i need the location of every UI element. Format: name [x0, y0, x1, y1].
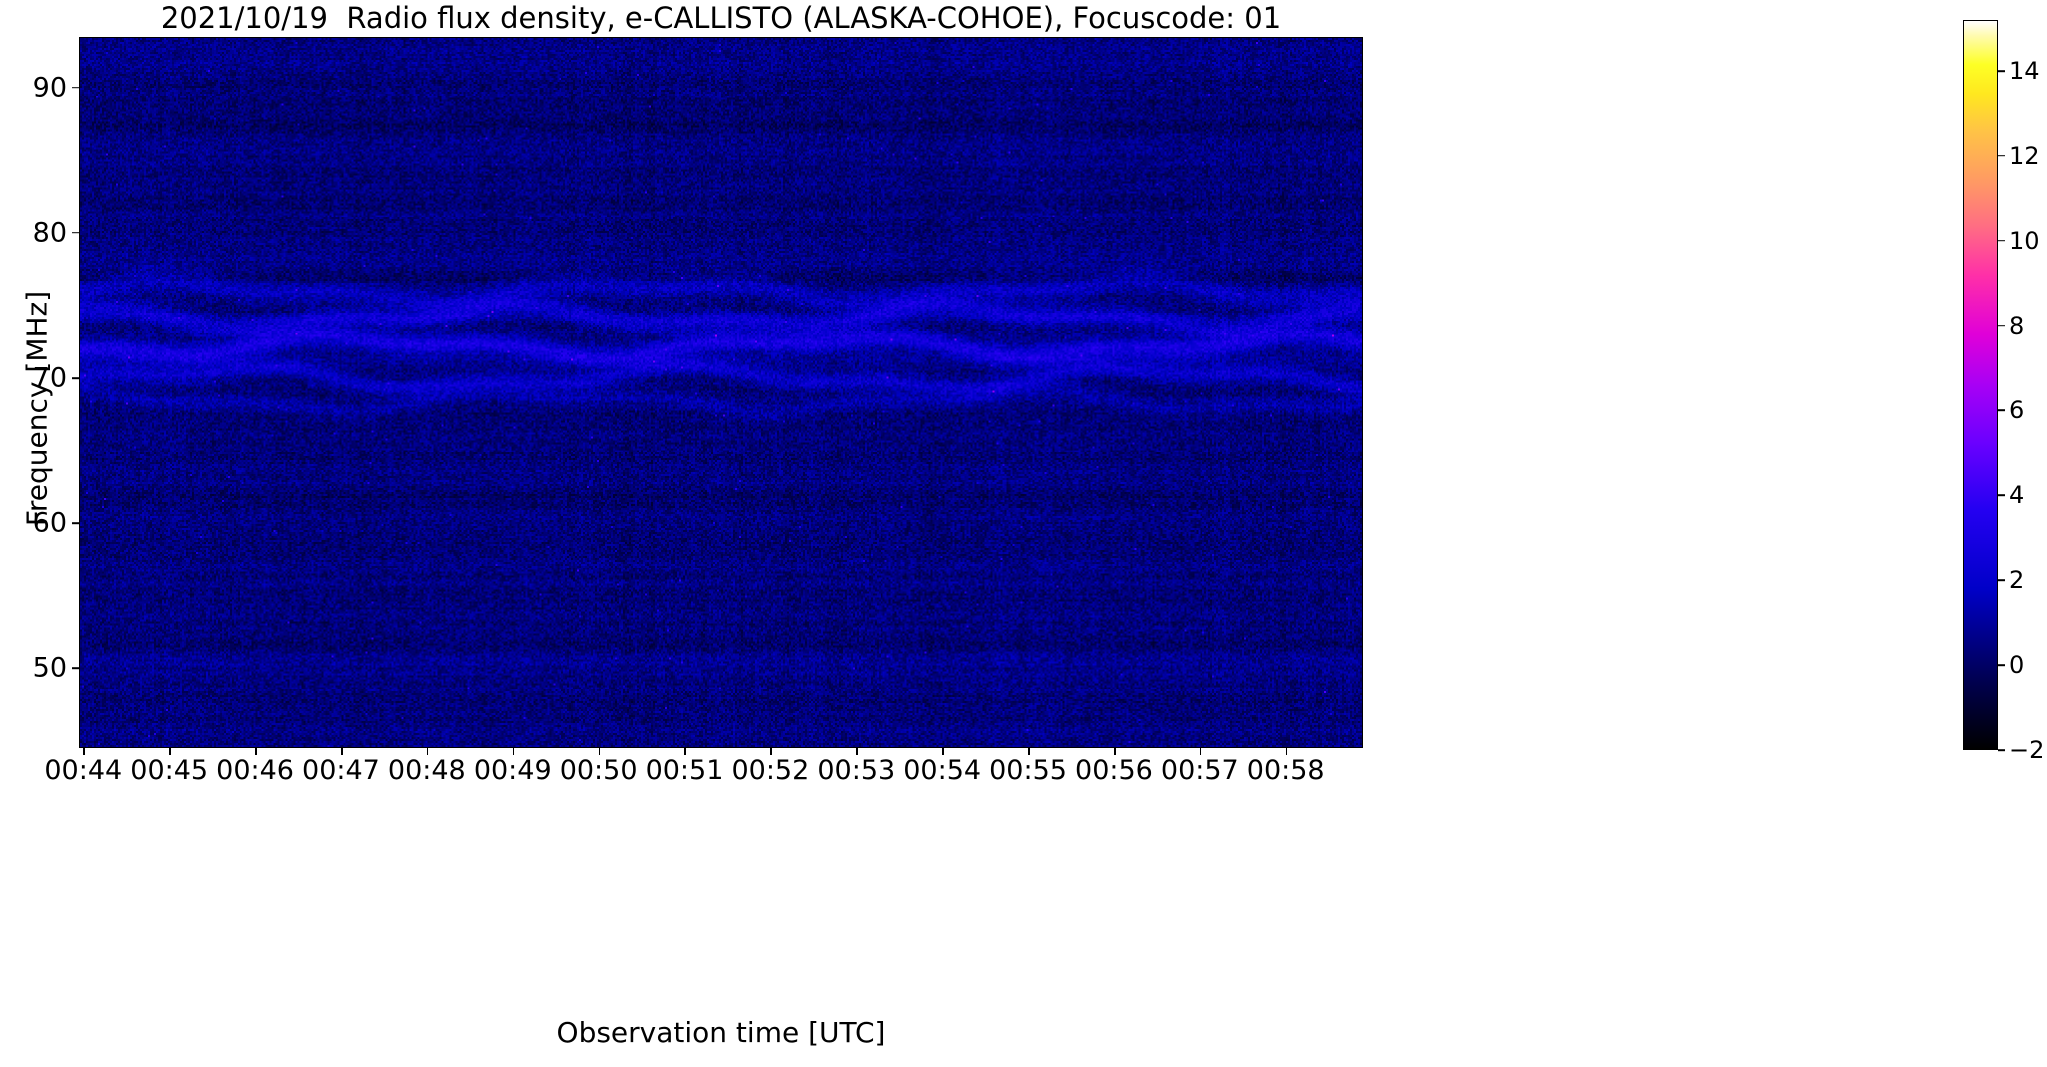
colorbar-tick-label: 4 — [2009, 483, 2024, 507]
x-tick-mark — [942, 748, 944, 755]
x-tick-mark — [341, 748, 343, 755]
colorbar[interactable]: 14121086420−2 — [1963, 20, 1998, 750]
colorbar-tick-label: 10 — [2009, 229, 2040, 253]
y-tick-mark — [72, 667, 79, 669]
x-tick-mark — [83, 748, 85, 755]
y-tick-label: 50 — [0, 655, 67, 682]
y-tick-label: 60 — [0, 510, 67, 537]
x-tick-mark — [599, 748, 601, 755]
y-tick-mark — [72, 87, 79, 89]
colorbar-tick-label: 8 — [2009, 314, 2024, 338]
colorbar-tick-mark — [1998, 495, 2005, 497]
x-tick-mark — [1114, 748, 1116, 755]
colorbar-tick-mark — [1998, 70, 2005, 72]
x-tick-mark — [1028, 748, 1030, 755]
colorbar-tick-label: 0 — [2009, 653, 2024, 677]
x-tick-mark — [513, 748, 515, 755]
x-tick-mark — [255, 748, 257, 755]
y-axis-label: Frequency [MHz] — [21, 89, 54, 729]
y-tick-label: 80 — [0, 219, 67, 246]
colorbar-tick-label: 2 — [2009, 568, 2024, 592]
x-tick-label: 00:58 — [1206, 757, 1366, 784]
colorbar-tick-mark — [1998, 749, 2005, 751]
x-axis-label: Observation time [UTC] — [79, 1016, 1363, 1049]
x-tick-mark — [684, 748, 686, 755]
figure-canvas: 2021/10/19 Radio flux density, e-CALLIST… — [0, 0, 2047, 1067]
x-tick-mark — [1286, 748, 1288, 755]
y-tick-mark — [72, 522, 79, 524]
colorbar-tick-label: 6 — [2009, 398, 2024, 422]
x-tick-mark — [770, 748, 772, 755]
x-tick-mark — [1200, 748, 1202, 755]
y-tick-mark — [72, 232, 79, 234]
x-tick-mark — [169, 748, 171, 755]
colorbar-tick-label: −2 — [2009, 738, 2044, 762]
colorbar-tick-mark — [1998, 664, 2005, 666]
spectrogram-image — [80, 38, 1362, 747]
colorbar-tick-mark — [1998, 325, 2005, 327]
colorbar-tick-mark — [1998, 579, 2005, 581]
spectrogram-plot-area[interactable] — [79, 37, 1363, 748]
y-tick-label: 90 — [0, 74, 67, 101]
colorbar-tick-mark — [1998, 410, 2005, 412]
colorbar-tick-label: 14 — [2009, 59, 2040, 83]
colorbar-tick-mark — [1998, 240, 2005, 242]
x-tick-mark — [856, 748, 858, 755]
colorbar-tick-label: 12 — [2009, 144, 2040, 168]
colorbar-tick-mark — [1998, 155, 2005, 157]
colorbar-gradient — [1963, 20, 1998, 750]
page-title: 2021/10/19 Radio flux density, e-CALLIST… — [79, 2, 1363, 34]
x-tick-mark — [427, 748, 429, 755]
y-tick-mark — [72, 377, 79, 379]
y-tick-label: 70 — [0, 364, 67, 391]
